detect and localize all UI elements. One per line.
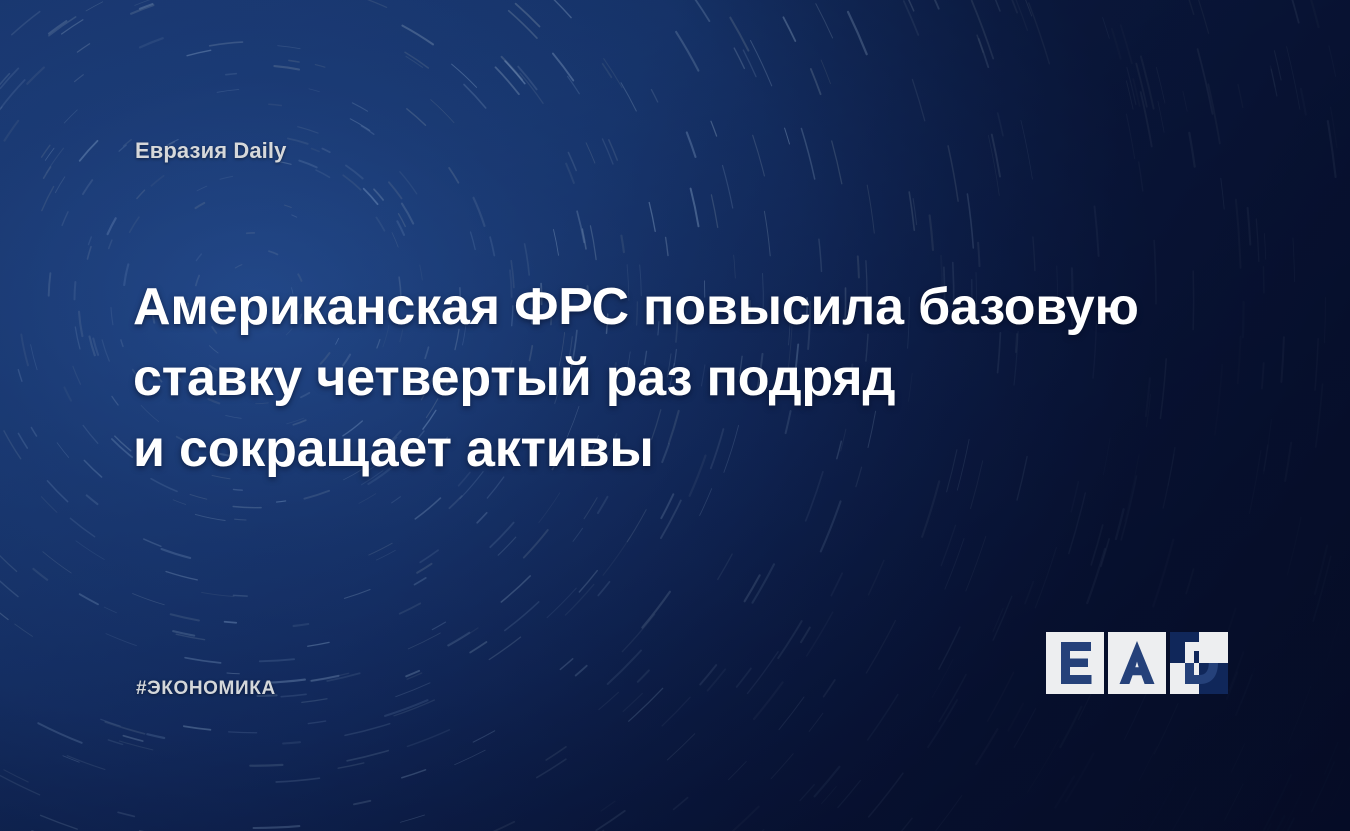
cover-content: Евразия Daily Американская ФРС повысила …	[0, 0, 1350, 831]
headline-line-2: ставку четвертый раз подряд	[133, 343, 1223, 414]
category-hashtag[interactable]: #ЭКОНОМИКА	[136, 678, 276, 700]
headline: Американская ФРС повысила базовую ставку…	[133, 272, 1223, 485]
news-cover-card: Евразия Daily Американская ФРС повысила …	[0, 0, 1350, 831]
ead-logo[interactable]	[1046, 632, 1228, 694]
logo-tile-e	[1046, 632, 1104, 694]
publisher-brand-name: Евразия Daily	[135, 138, 286, 164]
logo-tile-d	[1170, 632, 1228, 694]
headline-line-1: Американская ФРС повысила базовую	[133, 272, 1223, 343]
logo-tile-a	[1108, 632, 1166, 694]
headline-line-3: и сокращает активы	[133, 414, 1223, 485]
